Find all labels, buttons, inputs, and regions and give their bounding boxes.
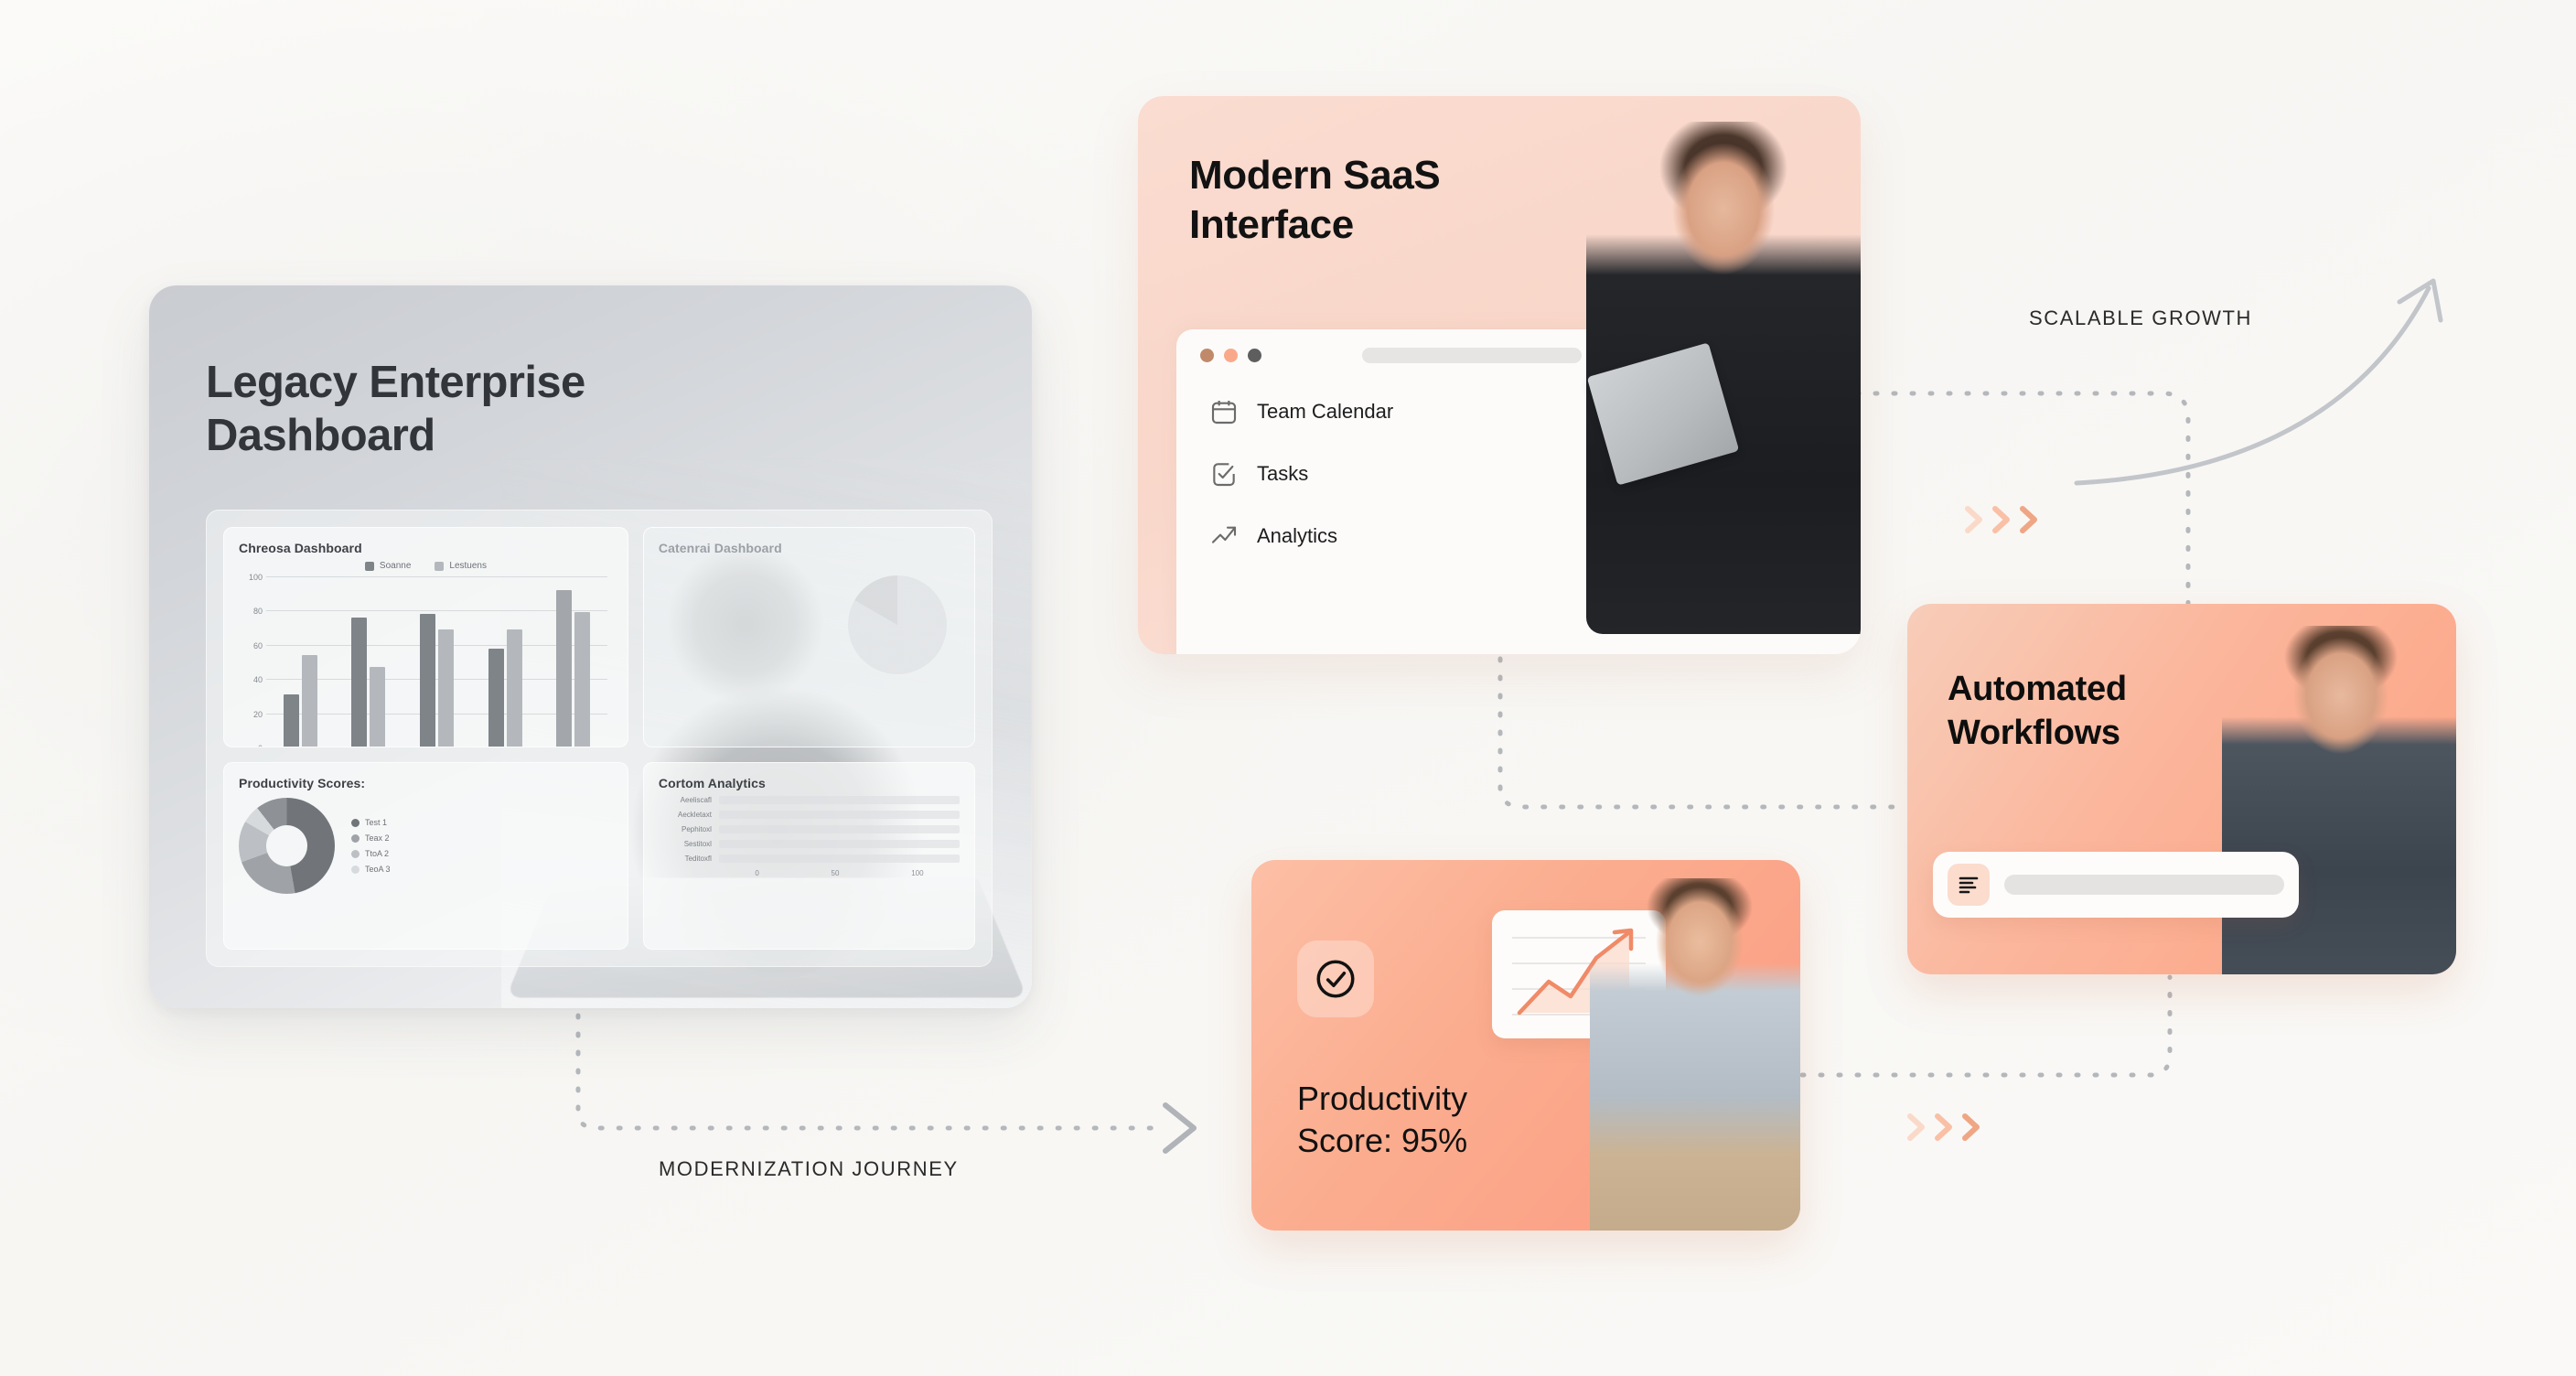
ytick-80: 80 <box>239 607 263 616</box>
chevron-group-upper <box>1962 501 2041 538</box>
legacy-hbar-axis: 0 50 100 <box>719 869 960 877</box>
chevron-group-lower <box>1905 1109 1983 1145</box>
bar-extra-5 <box>556 590 572 747</box>
calendar-icon <box>1209 397 1239 426</box>
man-pointing-chart-photo <box>1590 878 1800 1231</box>
saas-title-line-2: Interface <box>1189 200 1440 250</box>
menu-label-tasks: Tasks <box>1257 462 1308 486</box>
legacy-bar-series <box>266 576 607 747</box>
saas-card-title: Modern SaaS Interface <box>1189 151 1440 249</box>
window-controls <box>1200 349 1261 362</box>
bar-series1-1 <box>284 694 299 747</box>
hbar-row-2: Aeckletaxt <box>659 811 960 819</box>
legend-label-series-1: Soanne <box>380 561 411 571</box>
hbar-track-3 <box>719 825 960 833</box>
donut-legend-label-3: TtoA 2 <box>365 849 389 858</box>
hbar-track-4 <box>719 840 960 848</box>
hbar-track-5 <box>719 855 960 863</box>
hbar-axis-tick-3: 100 <box>911 869 923 877</box>
workflow-progress-track[interactable] <box>2004 875 2284 895</box>
chevron-right-icon-5 <box>1932 1109 1956 1145</box>
productivity-card-title: Productivity Score: 95% <box>1297 1078 1467 1162</box>
ytick-40: 40 <box>239 675 263 684</box>
saas-title-line-1: Modern SaaS <box>1189 151 1440 200</box>
chevron-right-icon-6 <box>1959 1109 1983 1145</box>
ytick-100: 100 <box>239 573 263 582</box>
connector-saas-to-automated-top <box>1857 393 2188 604</box>
legacy-bar-chart: 100 80 60 40 20 0 <box>266 576 607 747</box>
donut-legend-item-1: Test 1 <box>351 818 391 827</box>
bar-series1-4 <box>488 649 504 747</box>
hbar-axis-tick-2: 50 <box>832 869 840 877</box>
donut-legend-dot-1 <box>351 819 360 827</box>
legacy-donut-legend: Test 1 Teax 2 TtoA 2 TeoA 3 <box>351 818 391 874</box>
hbar-row-5: Teditoxfl <box>659 855 960 863</box>
bar-series1-3 <box>420 614 435 747</box>
bar-series2-2 <box>370 667 385 747</box>
chevron-right-icon-2 <box>1990 501 2013 538</box>
bar-group-3 <box>420 576 454 747</box>
menu-label-team-calendar: Team Calendar <box>1257 400 1393 424</box>
legacy-analytics-panel[interactable]: Cortom Analytics Aeeliscafl Aeckletaxt P… <box>643 762 975 950</box>
check-square-icon <box>1209 459 1239 489</box>
hbar-row-1: Aeeliscafl <box>659 796 960 804</box>
chevron-right-icon-1 <box>1962 501 1986 538</box>
bar-group-4 <box>488 576 522 747</box>
ytick-60: 60 <box>239 641 263 650</box>
window-minimize-dot[interactable] <box>1224 349 1238 362</box>
legend-item-series-2: Lestuens <box>435 561 487 571</box>
address-bar[interactable] <box>1362 348 1582 363</box>
donut-legend-item-4: TeoA 3 <box>351 865 391 874</box>
legacy-card-title: Legacy Enterprise Dashboard <box>206 357 773 463</box>
connector-legacy-to-productivity <box>578 1016 1162 1128</box>
donut-legend-label-4: TeoA 3 <box>365 865 391 874</box>
hbar-track-1 <box>719 796 960 804</box>
modernization-journey-label: MODERNIZATION JOURNEY <box>659 1157 959 1181</box>
legacy-donut-chart <box>239 798 335 894</box>
donut-legend-dot-4 <box>351 865 360 874</box>
ytick-20: 20 <box>239 710 263 719</box>
legacy-bar-legend: Soanne Lestuens <box>239 561 613 571</box>
legend-swatch-series-2 <box>435 562 444 571</box>
trending-up-icon <box>1209 521 1239 551</box>
window-close-dot[interactable] <box>1200 349 1214 362</box>
chevron-right-icon-3 <box>2017 501 2041 538</box>
hbar-axis-tick-1: 0 <box>755 869 758 877</box>
scalable-growth-label: SCALABLE GROWTH <box>2029 306 2252 330</box>
legacy-bar-chart-panel[interactable]: Chreosa Dashboard Soanne Lestuens 100 80… <box>223 527 628 747</box>
legacy-title-line-1: Legacy Enterprise <box>206 357 773 410</box>
bar-series2-1 <box>302 655 317 747</box>
hbar-label-4: Sestitoxl <box>659 840 712 848</box>
legacy-hbar-list: Aeeliscafl Aeckletaxt Pephitoxl Sestitox… <box>659 796 960 863</box>
hbar-row-3: Pephitoxl <box>659 825 960 833</box>
legacy-dashboard-grid: Chreosa Dashboard Soanne Lestuens 100 80… <box>206 510 993 967</box>
legacy-hbar-panel-title: Cortom Analytics <box>659 776 960 790</box>
menu-label-analytics: Analytics <box>1257 524 1337 548</box>
automated-workflows-card[interactable]: Automated Workflows <box>1907 604 2456 974</box>
hbar-label-2: Aeckletaxt <box>659 811 712 819</box>
donut-legend-dot-3 <box>351 850 360 858</box>
bar-group-5 <box>556 576 590 747</box>
hbar-track-2 <box>719 811 960 819</box>
donut-legend-label-2: Teax 2 <box>365 833 390 843</box>
legacy-donut-wrap: Test 1 Teax 2 TtoA 2 TeoA 3 <box>239 798 613 894</box>
connector-saas-to-automated-left <box>1500 640 1907 807</box>
donut-legend-item-2: Teax 2 <box>351 833 391 843</box>
bar-series2-3 <box>438 629 454 747</box>
modern-saas-interface-card[interactable]: Modern SaaS Interface <box>1138 96 1861 654</box>
bar-series1-2 <box>351 618 367 747</box>
ytick-0: 0 <box>239 744 263 747</box>
legacy-title-line-2: Dashboard <box>206 410 773 463</box>
productivity-score-card[interactable]: Productivity Score: 95% <box>1251 860 1800 1231</box>
bar-series2-4 <box>507 629 522 747</box>
legend-swatch-series-1 <box>365 562 374 571</box>
automated-card-title: Automated Workflows <box>1948 668 2127 755</box>
legend-item-series-1: Soanne <box>365 561 411 571</box>
hbar-label-5: Teditoxfl <box>659 855 712 863</box>
arrowhead-modernization <box>1165 1105 1194 1151</box>
legacy-enterprise-dashboard-card[interactable]: Legacy Enterprise Dashboard Chreosa Dash… <box>149 285 1032 1008</box>
legend-label-series-2: Lestuens <box>449 561 487 571</box>
workflow-progress-widget[interactable] <box>1933 852 2299 918</box>
chevron-right-icon-4 <box>1905 1109 1928 1145</box>
smiling-man-arms-crossed-photo <box>2222 626 2456 974</box>
automated-title-line-1: Automated <box>1948 668 2127 712</box>
productivity-title-line-2: Score: 95% <box>1297 1120 1467 1162</box>
bar-group-2 <box>351 576 385 747</box>
legacy-pie-chart <box>848 575 947 674</box>
bar-group-1 <box>284 576 317 747</box>
hbar-label-1: Aeeliscafl <box>659 796 712 804</box>
legacy-bar-panel-title: Chreosa Dashboard <box>239 541 613 555</box>
legacy-pie-panel-title: Catenrai Dashboard <box>659 541 960 555</box>
productivity-title-line-1: Productivity <box>1297 1078 1467 1120</box>
growth-arrowhead <box>2399 281 2441 320</box>
businesswoman-tablet-photo <box>1586 122 1861 634</box>
legacy-donut-panel-title: Productivity Scores: <box>239 776 613 790</box>
infographic-canvas: Legacy Enterprise Dashboard Chreosa Dash… <box>0 0 2576 1376</box>
list-lines-icon <box>1948 864 1990 906</box>
hbar-row-4: Sestitoxl <box>659 840 960 848</box>
legacy-pie-panel[interactable]: Catenrai Dashboard <box>643 527 975 747</box>
donut-legend-label-1: Test 1 <box>365 818 387 827</box>
window-maximize-dot[interactable] <box>1248 349 1261 362</box>
automated-title-line-2: Workflows <box>1948 712 2127 756</box>
legacy-productivity-panel[interactable]: Productivity Scores: Test 1 Teax 2 <box>223 762 628 950</box>
bar-series2-5 <box>574 612 590 747</box>
check-circle-icon <box>1297 941 1374 1017</box>
donut-legend-item-3: TtoA 2 <box>351 849 391 858</box>
donut-legend-dot-2 <box>351 834 360 843</box>
hbar-label-3: Pephitoxl <box>659 825 712 833</box>
connector-productivity-to-automated <box>1802 977 2170 1075</box>
